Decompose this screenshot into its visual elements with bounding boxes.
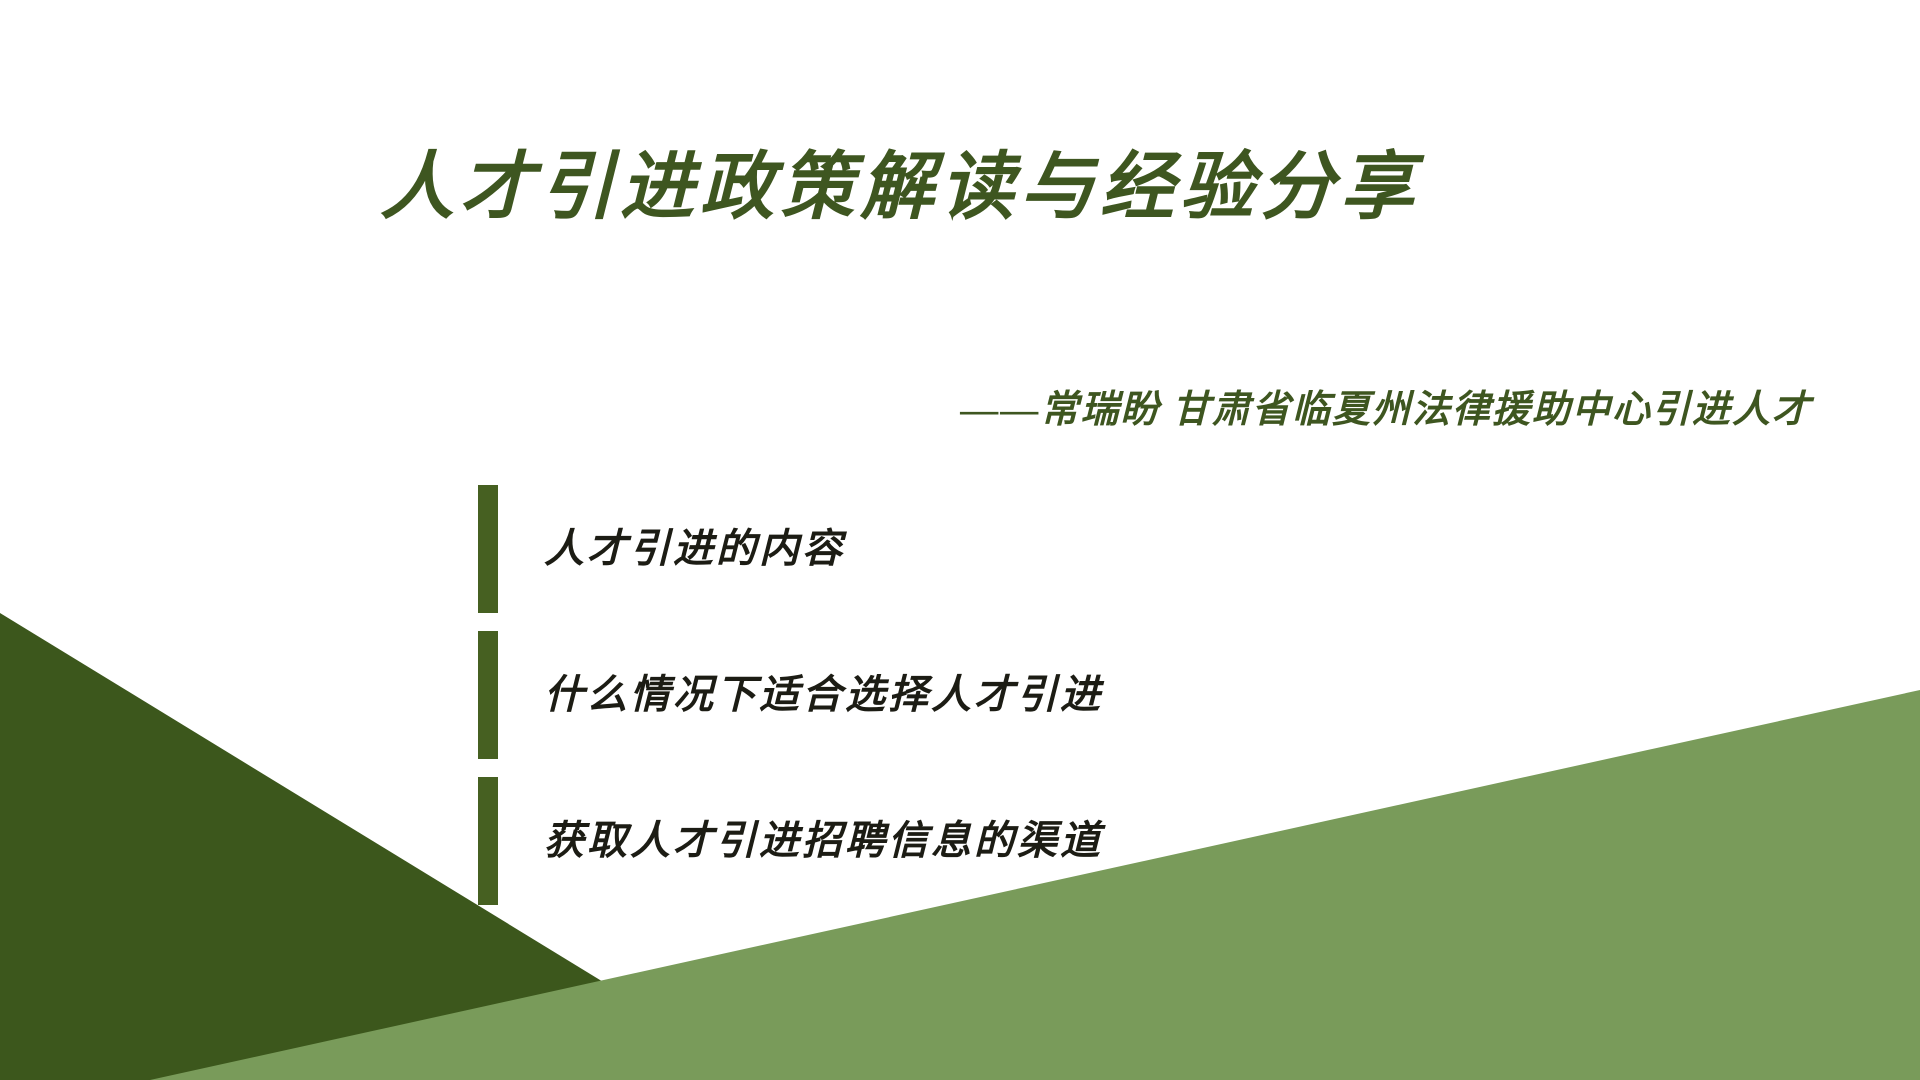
agenda-item-label: 什么情况下适合选择人才引进 bbox=[544, 671, 1103, 719]
subtitle-block: ——常瑞盼 甘肃省临夏州法律援助中心引进人才 bbox=[960, 390, 1812, 432]
agenda-item-label: 人才引进的内容 bbox=[544, 525, 845, 573]
agenda-item[interactable]: 获取人才引进招聘信息的渠道 bbox=[478, 777, 1378, 905]
presentation-slide: 人才引进政策解读与经验分享 ——常瑞盼 甘肃省临夏州法律援助中心引进人才 人才引… bbox=[0, 0, 1920, 1080]
agenda-bar-accent bbox=[478, 777, 498, 905]
title-block: 人才引进政策解读与经验分享 bbox=[0, 150, 1800, 228]
agenda-item[interactable]: 什么情况下适合选择人才引进 bbox=[478, 631, 1378, 759]
agenda-list: 人才引进的内容 什么情况下适合选择人才引进 获取人才引进招聘信息的渠道 bbox=[478, 485, 1378, 905]
agenda-bar-accent bbox=[478, 631, 498, 759]
slide-subtitle-author: ——常瑞盼 甘肃省临夏州法律援助中心引进人才 bbox=[960, 390, 1812, 432]
slide-title: 人才引进政策解读与经验分享 bbox=[380, 150, 1420, 228]
agenda-item[interactable]: 人才引进的内容 bbox=[478, 485, 1378, 613]
agenda-item-label: 获取人才引进招聘信息的渠道 bbox=[544, 817, 1103, 865]
agenda-bar-accent bbox=[478, 485, 498, 613]
